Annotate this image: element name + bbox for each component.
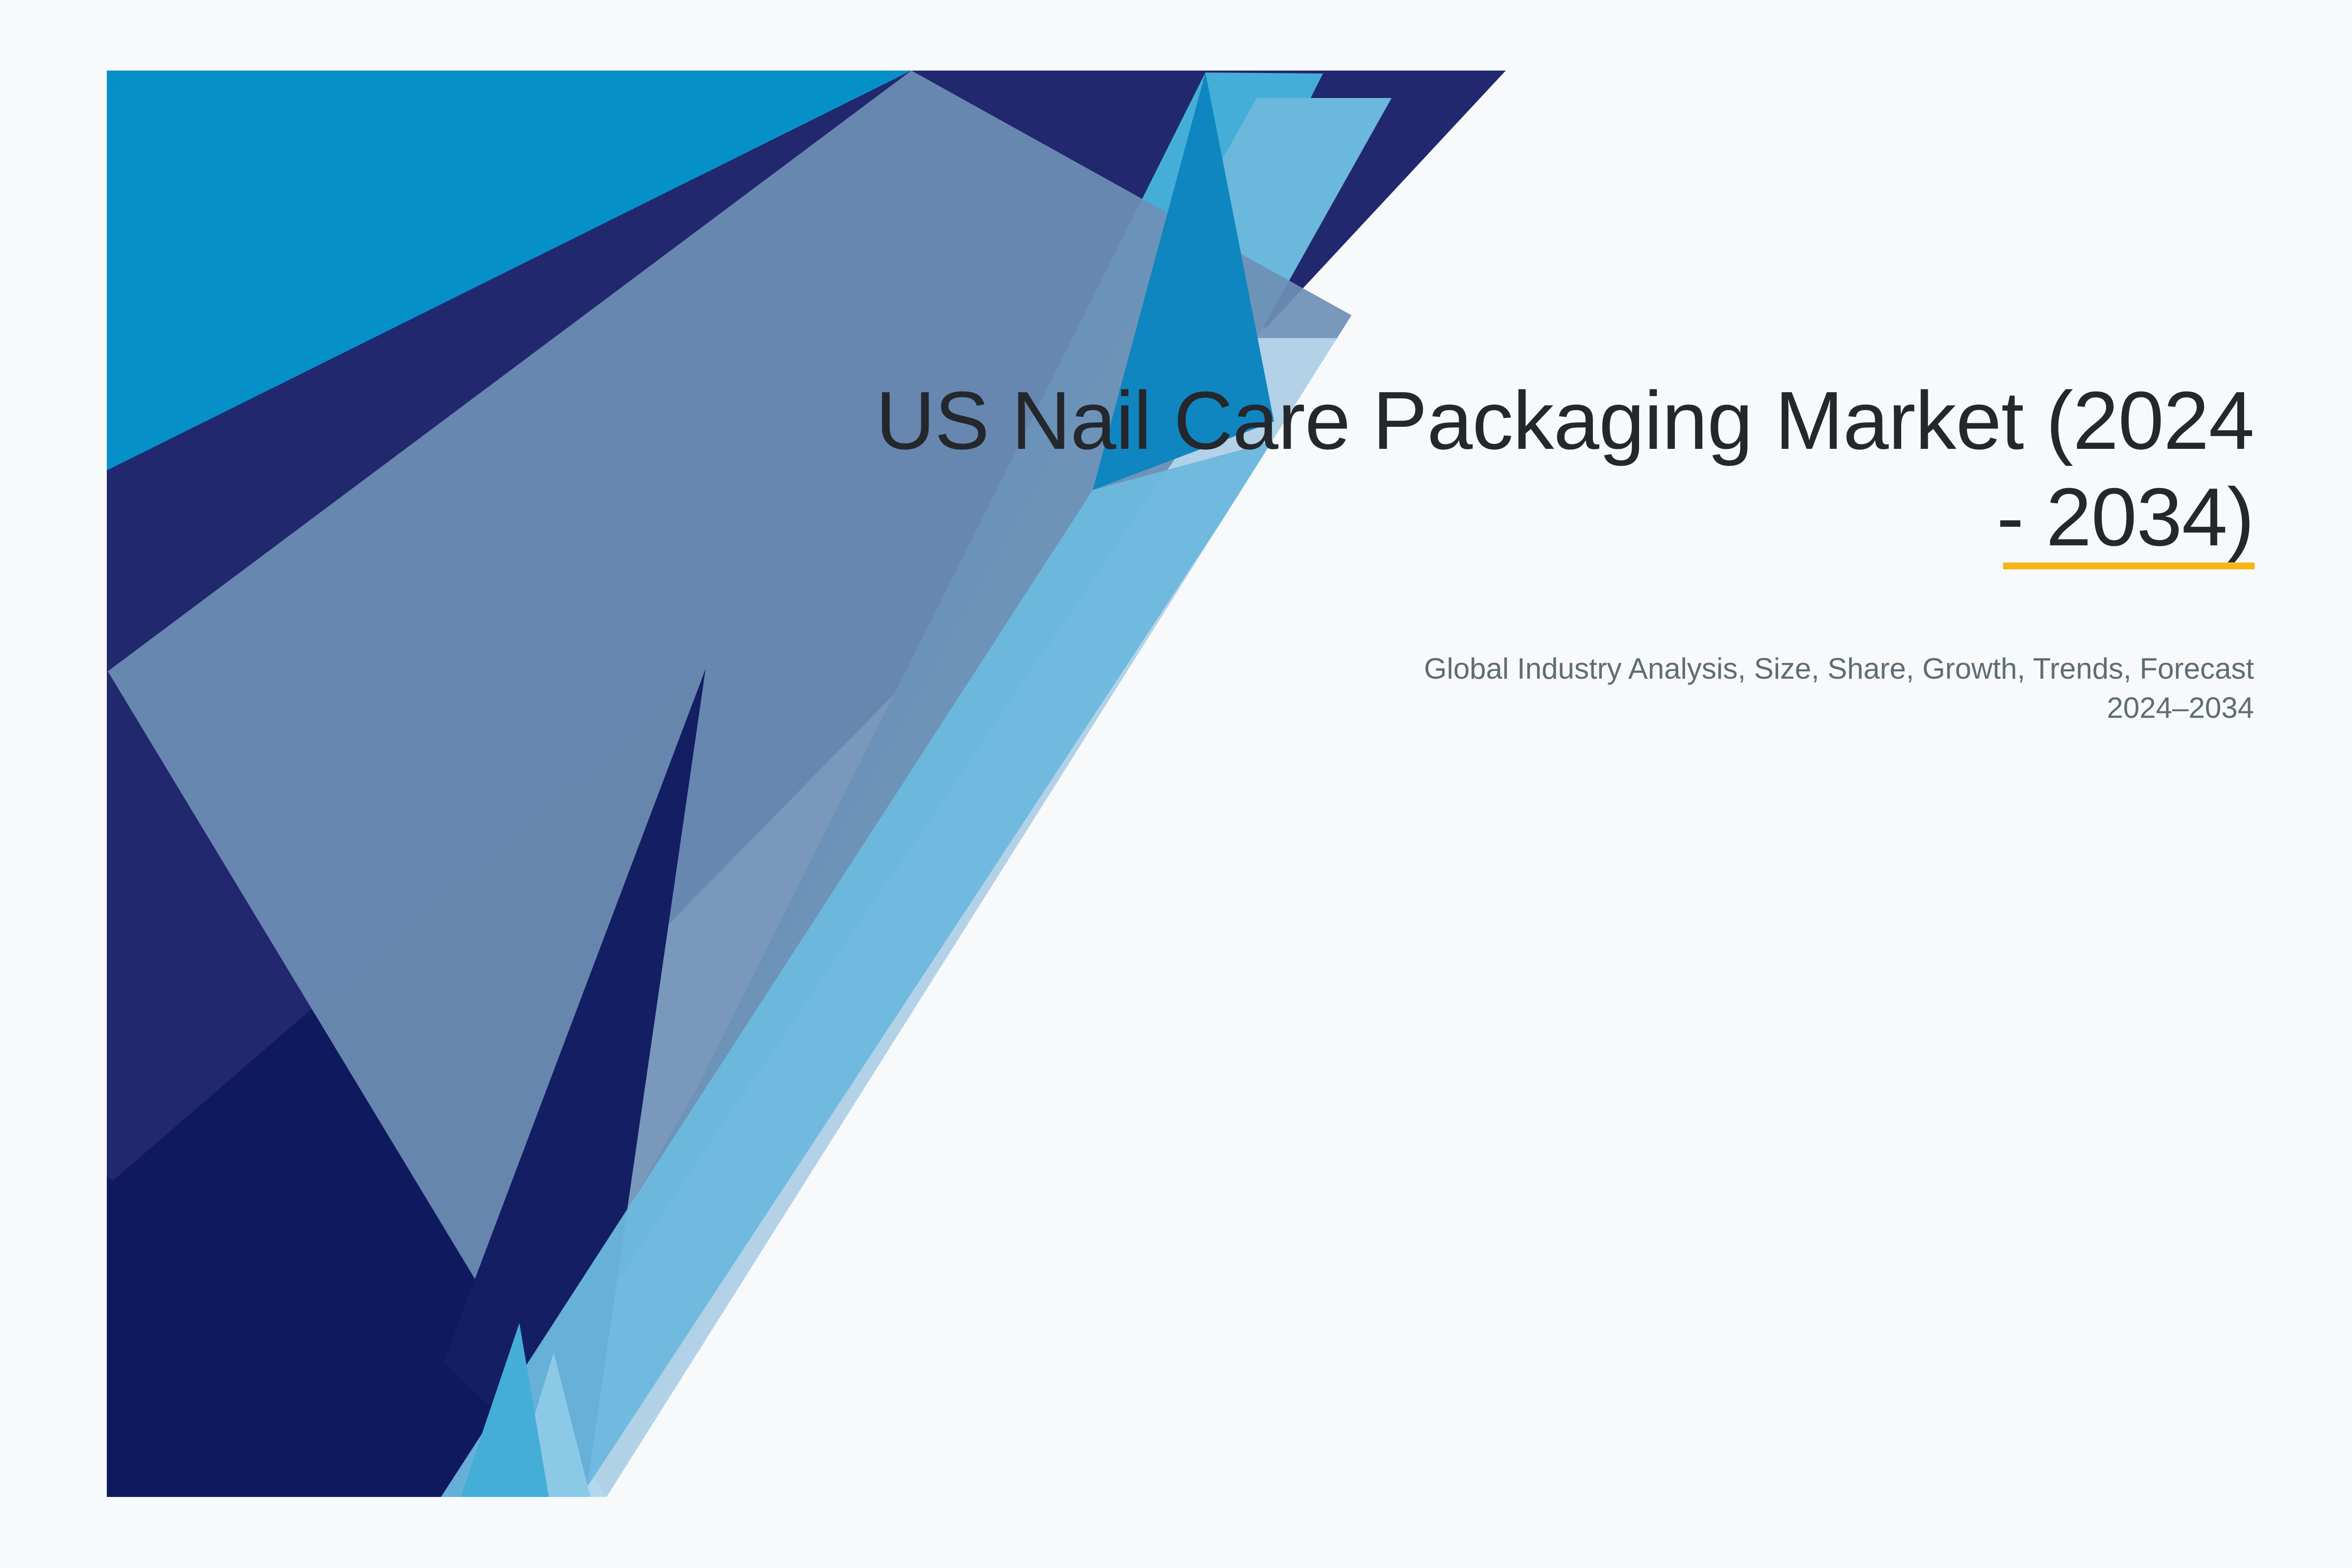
top-background-mask <box>0 0 2352 71</box>
page-subtitle: Global Industry Analysis, Size, Share, G… <box>1421 649 2254 728</box>
title-text-block: US Nail Care Packaging Market (2024 - 20… <box>833 372 2254 565</box>
bottom-background-mask <box>0 1497 2352 1568</box>
title-slide: US Nail Care Packaging Market (2024 - 20… <box>0 0 2352 1568</box>
abstract-geometric-artwork <box>0 0 2352 1568</box>
page-title: US Nail Care Packaging Market (2024 - 20… <box>833 372 2254 565</box>
left-background-mask <box>0 0 107 1568</box>
title-accent-underline <box>2003 563 2254 569</box>
